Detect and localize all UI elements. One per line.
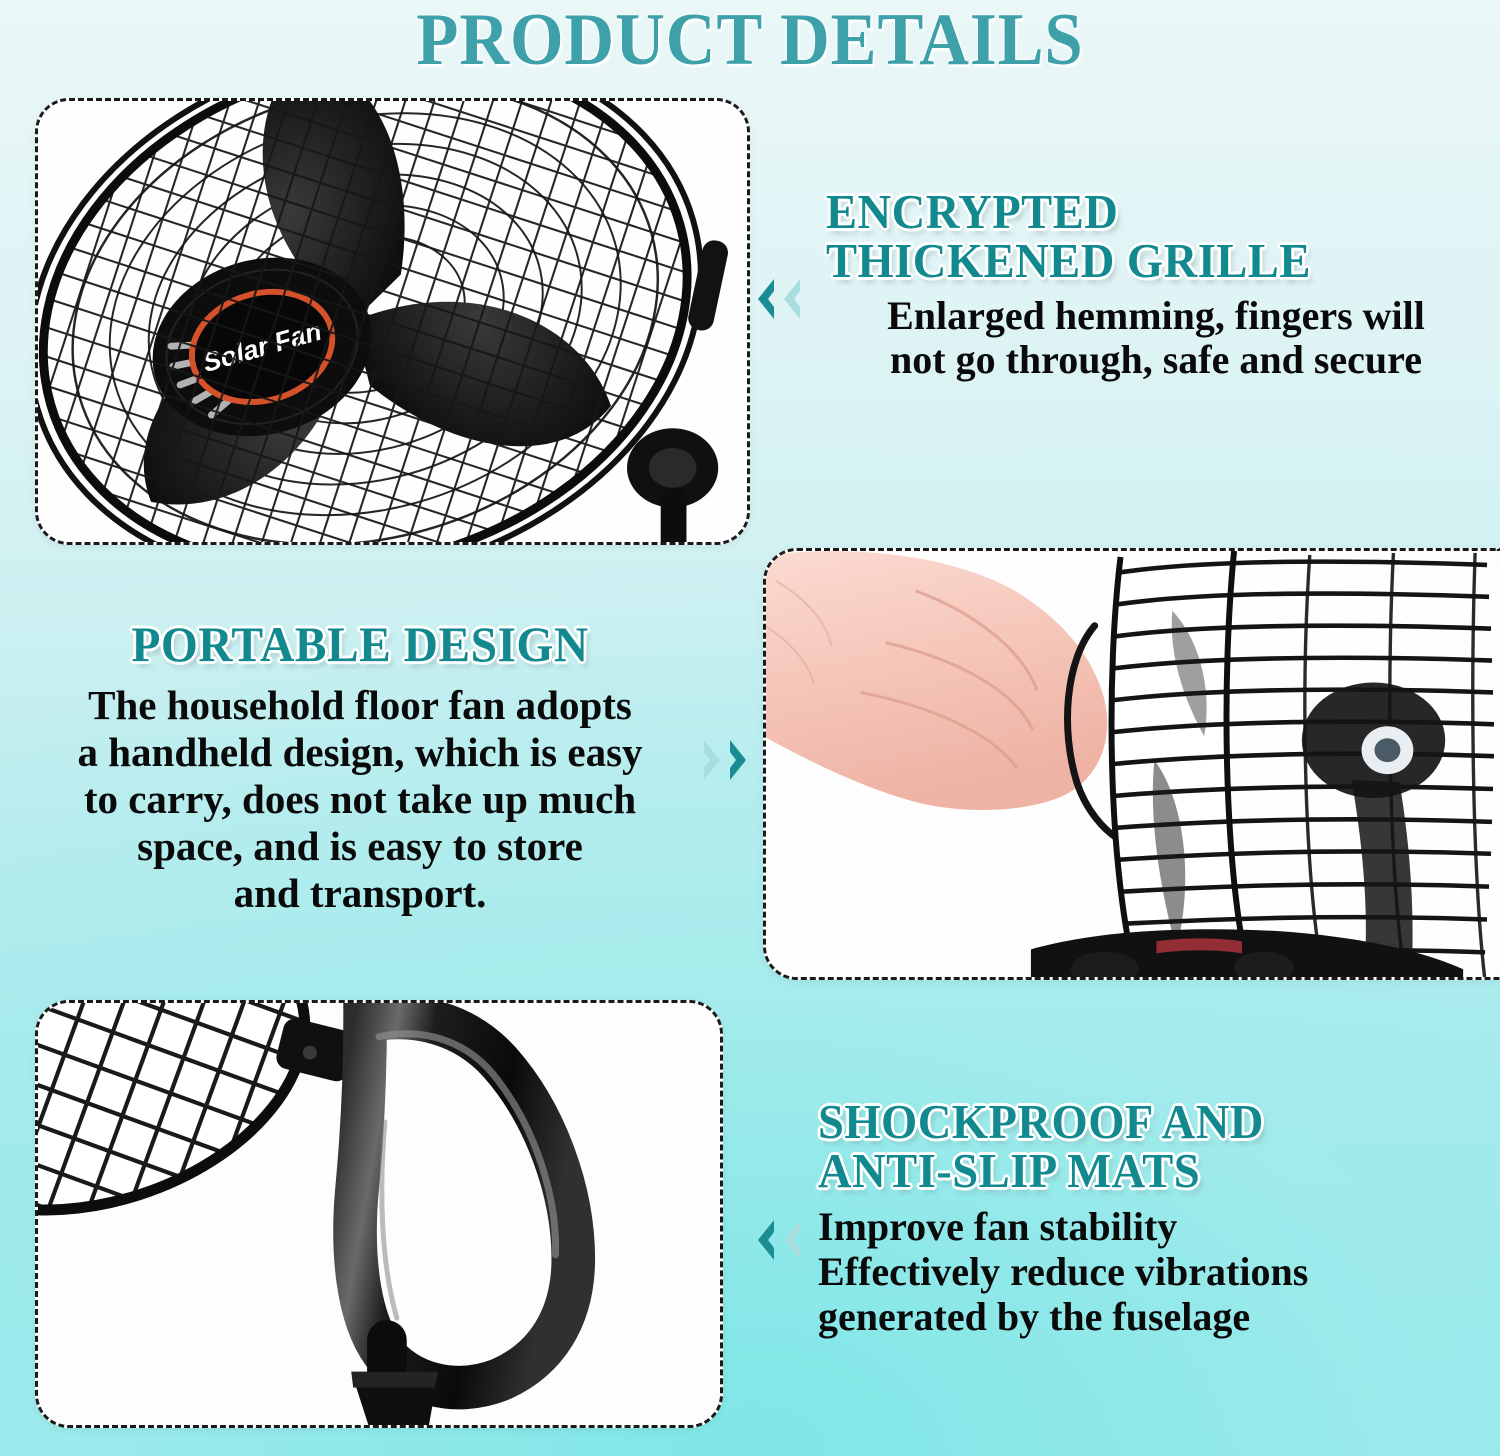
feature-image-handle: [763, 548, 1500, 980]
chevron-left-icon: [778, 277, 804, 321]
feature-image-grille: Solar Fan: [35, 98, 750, 545]
feature-text-shock: SHOCKPROOF AND ANTI-SLIP MATS Improve fa…: [818, 1098, 1488, 1340]
chevron-left-icon: [778, 1218, 804, 1262]
double-chevron-left-grille: [752, 277, 804, 321]
feature-body-portable: The household floor fan adopts a handhel…: [10, 682, 710, 918]
chevron-left-icon: [752, 1218, 778, 1262]
double-chevron-left-shock: [752, 1218, 804, 1262]
hand-holding-fan-illustration: [766, 551, 1500, 980]
feature-heading-shock: SHOCKPROOF AND ANTI-SLIP MATS: [818, 1098, 1455, 1195]
page-title: PRODUCT DETAILS: [53, 0, 1448, 83]
fan-base-foot-illustration: [38, 1003, 720, 1427]
feature-text-grille: ENCRYPTED THICKENED GRILLE Enlarged hemm…: [826, 188, 1486, 382]
chevron-left-icon: [752, 277, 778, 321]
double-chevron-right-portable: [700, 738, 752, 782]
feature-body-shock: Improve fan stability Effectively reduce…: [818, 1204, 1488, 1340]
feature-heading-grille: ENCRYPTED THICKENED GRILLE: [826, 188, 1453, 285]
fan-grille-illustration: Solar Fan: [38, 101, 747, 544]
feature-image-base: [35, 1000, 723, 1428]
feature-heading-portable: PORTABLE DESIGN: [28, 620, 693, 670]
chevron-right-icon: [700, 738, 726, 782]
feature-text-portable: PORTABLE DESIGN The household floor fan …: [10, 620, 710, 917]
feature-body-grille: Enlarged hemming, fingers will not go th…: [826, 294, 1486, 382]
chevron-right-icon: [726, 738, 752, 782]
product-details-infographic: PRODUCT DETAILS: [0, 0, 1500, 1456]
